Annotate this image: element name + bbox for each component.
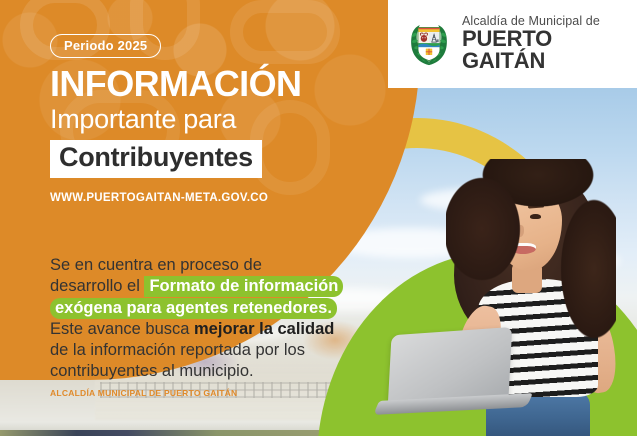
body-line-4-plain: Este avance busca (50, 320, 194, 338)
body-line-6: contribuyentes al municipio. (50, 361, 370, 382)
body-strong-1: mejorar la calidad (194, 320, 334, 338)
page-subtitle: Importante para (50, 104, 370, 134)
body-line-4: Este avance busca mejorar la calidad (50, 319, 370, 340)
website-url[interactable]: WWW.PUERTOGAITAN-META.GOV.CO (50, 192, 370, 204)
brand-line-2: PUERTO GAITÁN (462, 28, 623, 73)
body-line-5: de la información reportada por los (50, 340, 370, 361)
page-subtitle-highlight: Contribuyentes (50, 140, 262, 178)
body-copy: Se en cuentra en proceso de desarrollo e… (50, 255, 370, 383)
brand-header-band: Alcaldía de Municipal de PUERTO GAITÁN (388, 0, 637, 88)
body-line-2: desarrollo el Formato de información (50, 276, 370, 297)
poster-canvas: Alcaldía de Municipal de PUERTO GAITÁN P… (0, 0, 637, 436)
period-badge: Periodo 2025 (50, 34, 161, 58)
body-highlight-1: Formato de información (144, 276, 343, 297)
woman-with-laptop-photo (430, 155, 630, 436)
body-line-2-plain: desarrollo el (50, 277, 144, 295)
brand-text: Alcaldía de Municipal de PUERTO GAITÁN (462, 15, 623, 73)
body-highlight-2: exógena para agentes retenedores. (50, 298, 337, 319)
body-line-3: exógena para agentes retenedores. (50, 298, 370, 319)
puerto-gaitan-coat-of-arms-icon (406, 21, 452, 67)
body-line-1: Se en cuentra en proceso de (50, 255, 370, 276)
page-title: INFORMACIÓN (50, 66, 370, 102)
footer-attribution: ALCALDÍA MUNICIPAL DE PUERTO GAITÁN (50, 388, 237, 398)
hero-text-block: Periodo 2025 INFORMACIÓN Importante para… (50, 34, 370, 204)
page-subtitle-highlight-wrap: Contribuyentes (50, 140, 262, 178)
